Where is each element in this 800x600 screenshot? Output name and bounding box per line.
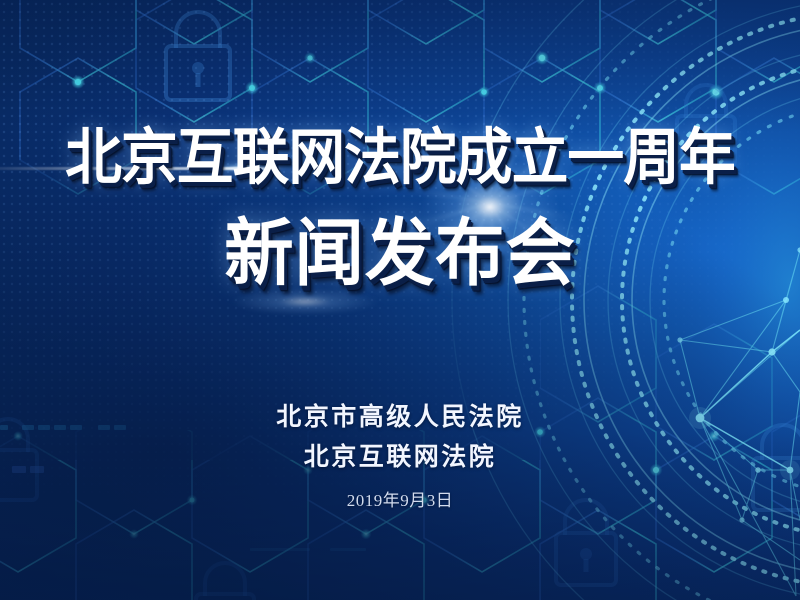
page-title: 北京互联网法院成立一周年 <box>28 127 772 188</box>
slide-content: 北京互联网法院成立一周年 新闻发布会 北京市高级人民法院 北京互联网法院 201… <box>0 0 800 600</box>
presentation-slide: 北京互联网法院成立一周年 新闻发布会 北京市高级人民法院 北京互联网法院 201… <box>0 0 800 600</box>
event-date: 2019年9月3日 <box>0 486 800 511</box>
page-subtitle: 新闻发布会 <box>20 217 780 290</box>
organization-name-primary: 北京市高级人民法院 <box>0 397 800 433</box>
organization-name-secondary: 北京互联网法院 <box>0 437 800 473</box>
